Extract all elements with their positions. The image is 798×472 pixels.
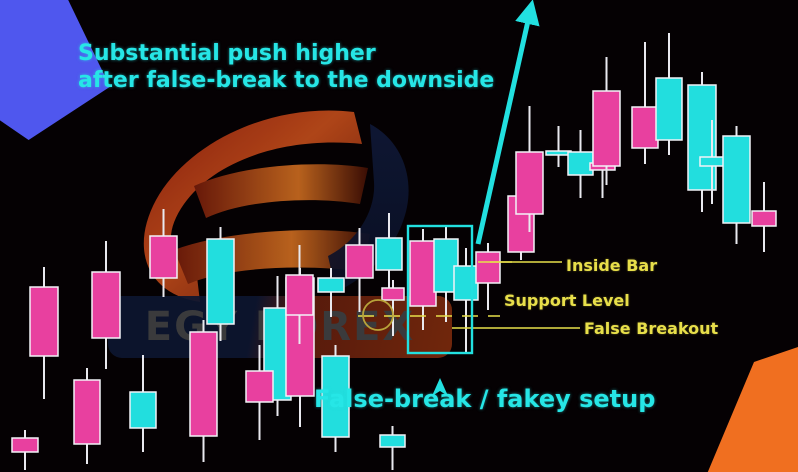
inside-bar-label: Inside Bar <box>566 256 657 275</box>
false-breakout-label: False Breakout <box>584 319 718 338</box>
fakey-setup-label: False-break / fakey setup <box>314 385 655 413</box>
false-break-circle-marker <box>363 300 393 330</box>
fakey-setup-highlight-box <box>408 226 472 353</box>
headline-annotation: Substantial push higher after false-brea… <box>78 40 494 94</box>
support-level-label: Support Level <box>504 291 630 310</box>
chart-screenshot: EGY FOREX Substantial push higher after … <box>0 0 798 472</box>
